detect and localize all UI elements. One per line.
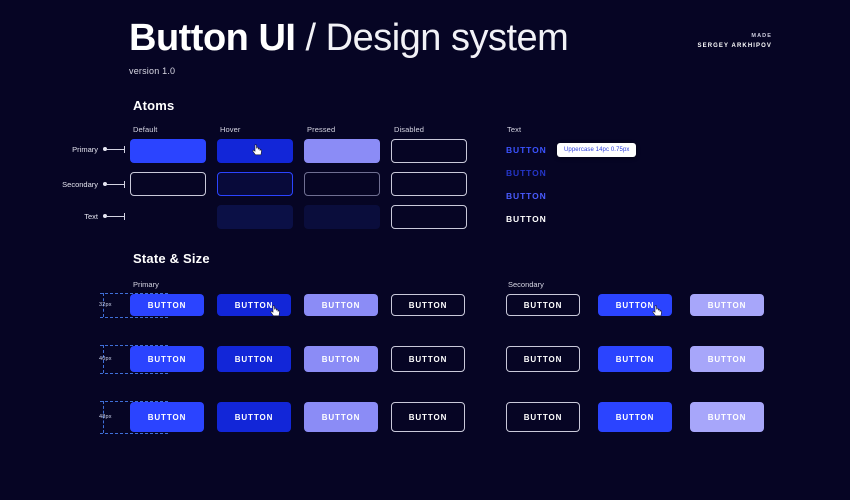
button-label: BUTTON [322, 301, 361, 310]
atom-primary-disabled[interactable] [391, 139, 467, 163]
button-label: BUTTON [148, 355, 187, 364]
text-sample-pressed[interactable]: BUTTON [506, 191, 547, 201]
atom-text-pressed[interactable] [304, 205, 380, 229]
column-header-disabled: Disabled [394, 125, 424, 134]
button-label: BUTTON [235, 301, 274, 310]
button-label: BUTTON [616, 413, 655, 422]
size40-secondary-light[interactable]: BUTTON [690, 346, 764, 372]
size-label-40: 40px [99, 356, 112, 362]
size40-primary-default[interactable]: BUTTON [130, 346, 204, 372]
atom-secondary-disabled[interactable] [391, 172, 467, 196]
row-label-secondary: Secondary [40, 180, 98, 189]
button-label: BUTTON [524, 355, 563, 364]
text-sample-default[interactable]: BUTTON [506, 145, 547, 155]
button-label: BUTTON [322, 413, 361, 422]
button-label: BUTTON [409, 355, 448, 364]
page-header: Button UI / Design system version 1.0 [129, 16, 568, 76]
leader-cap-text [124, 213, 125, 220]
leader-line-secondary [107, 184, 125, 185]
size32-primary-hover[interactable]: BUTTON [217, 294, 291, 316]
column-header-text: Text [507, 125, 521, 134]
column-header-hover: Hover [220, 125, 241, 134]
size48-primary-disabled[interactable]: BUTTON [391, 402, 465, 432]
atom-secondary-hover[interactable] [217, 172, 293, 196]
text-sample-disabled[interactable]: BUTTON [506, 214, 547, 224]
row-label-text: Text [58, 212, 98, 221]
size32-secondary-outline[interactable]: BUTTON [506, 294, 580, 316]
button-label: BUTTON [235, 413, 274, 422]
button-label: BUTTON [235, 355, 274, 364]
atom-text-hover[interactable] [217, 205, 293, 229]
atom-secondary-default[interactable] [130, 172, 206, 196]
button-label: BUTTON [322, 355, 361, 364]
button-label: BUTTON [616, 301, 655, 310]
button-label: BUTTON [524, 413, 563, 422]
version-label: version 1.0 [129, 66, 568, 76]
button-label: BUTTON [616, 355, 655, 364]
size40-secondary-outline[interactable]: BUTTON [506, 346, 580, 372]
button-label: BUTTON [708, 355, 747, 364]
text-sample-hover[interactable]: BUTTON [506, 168, 547, 178]
group-label-primary: Primary [133, 280, 159, 289]
row-label-primary: Primary [48, 145, 98, 154]
atoms-section-title: Atoms [133, 98, 174, 113]
size48-secondary-filled[interactable]: BUTTON [598, 402, 672, 432]
size40-primary-hover[interactable]: BUTTON [217, 346, 291, 372]
group-label-secondary: Secondary [508, 280, 544, 289]
guide-bottom-40 [100, 373, 168, 374]
credit-made-label: MADE [697, 33, 772, 39]
column-header-default: Default [133, 125, 157, 134]
atom-text-default[interactable] [130, 205, 206, 229]
size40-secondary-filled[interactable]: BUTTON [598, 346, 672, 372]
state-size-section-title: State & Size [133, 251, 210, 266]
size48-secondary-outline[interactable]: BUTTON [506, 402, 580, 432]
leader-line-text [107, 216, 125, 217]
column-header-pressed: Pressed [307, 125, 335, 134]
leader-cap-primary [124, 146, 125, 153]
button-label: BUTTON [409, 301, 448, 310]
button-label: BUTTON [524, 301, 563, 310]
guide-bottom-32 [100, 317, 168, 318]
button-label: BUTTON [708, 413, 747, 422]
size48-primary-pressed[interactable]: BUTTON [304, 402, 378, 432]
guide-bottom-48 [100, 433, 168, 434]
atom-primary-default[interactable] [130, 139, 206, 163]
credit-block: MADE SERGEY ARKHIPOV [697, 33, 772, 49]
button-label: BUTTON [409, 413, 448, 422]
size32-primary-disabled[interactable]: BUTTON [391, 294, 465, 316]
size40-primary-disabled[interactable]: BUTTON [391, 346, 465, 372]
atom-secondary-pressed[interactable] [304, 172, 380, 196]
atom-primary-hover[interactable] [217, 139, 293, 163]
size32-secondary-filled[interactable]: BUTTON [598, 294, 672, 316]
button-label: BUTTON [708, 301, 747, 310]
leader-cap-secondary [124, 181, 125, 188]
size-label-48: 48px [99, 414, 112, 420]
size48-primary-hover[interactable]: BUTTON [217, 402, 291, 432]
size32-primary-default[interactable]: BUTTON [130, 294, 204, 316]
size48-primary-default[interactable]: BUTTON [130, 402, 204, 432]
size40-primary-pressed[interactable]: BUTTON [304, 346, 378, 372]
atom-primary-pressed[interactable] [304, 139, 380, 163]
button-label: BUTTON [148, 413, 187, 422]
leader-line-primary [107, 149, 125, 150]
page-title: Button UI / Design system [129, 16, 568, 60]
atom-text-disabled[interactable] [391, 205, 467, 229]
size48-secondary-light[interactable]: BUTTON [690, 402, 764, 432]
size-label-32: 32px [99, 302, 112, 308]
title-light: Design system [326, 17, 569, 59]
title-bold: Button UI [129, 17, 295, 59]
size32-primary-pressed[interactable]: BUTTON [304, 294, 378, 316]
title-separator: / [295, 17, 325, 59]
credit-author-name: SERGEY ARKHIPOV [697, 43, 772, 49]
button-label: BUTTON [148, 301, 187, 310]
typography-tooltip: Uppercase 14pc 0.75px [557, 143, 636, 157]
size32-secondary-light[interactable]: BUTTON [690, 294, 764, 316]
